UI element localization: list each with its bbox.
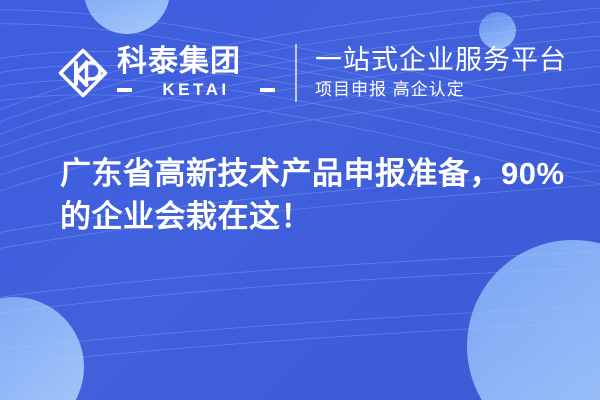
tagline-main: 一站式企业服务平台 <box>315 44 567 76</box>
brand-name-en-row: KETAI <box>117 80 275 99</box>
tagline-sub: 项目申报 高企认定 <box>315 78 567 102</box>
wordmark-dash-right <box>260 88 275 92</box>
promo-banner: 科泰集团 KETAI 一站式企业服务平台 项目申报 高企认定 广东省高新技术产品… <box>0 0 600 400</box>
wordmark-dash-left <box>117 88 132 92</box>
headline-text: 广东省高新技术产品申报准备，90%的企业会栽在这！ <box>60 152 570 238</box>
tagline-block: 一站式企业服务平台 项目申报 高企认定 <box>315 44 567 102</box>
decorative-circle-bottom-right <box>467 240 600 400</box>
brand-name-en: KETAI <box>132 80 260 99</box>
header-divider <box>295 44 297 102</box>
brand-name-cn: 科泰集团 <box>117 46 275 78</box>
brand-logo[interactable]: 科泰集团 KETAI <box>58 46 275 99</box>
banner-header: 科泰集团 KETAI 一站式企业服务平台 项目申报 高企认定 <box>0 0 600 145</box>
decorative-circle-bottom-left <box>0 297 84 400</box>
ketai-kp-diamond-logo-icon <box>58 48 108 98</box>
brand-logo-wordmark: 科泰集团 KETAI <box>117 46 275 99</box>
